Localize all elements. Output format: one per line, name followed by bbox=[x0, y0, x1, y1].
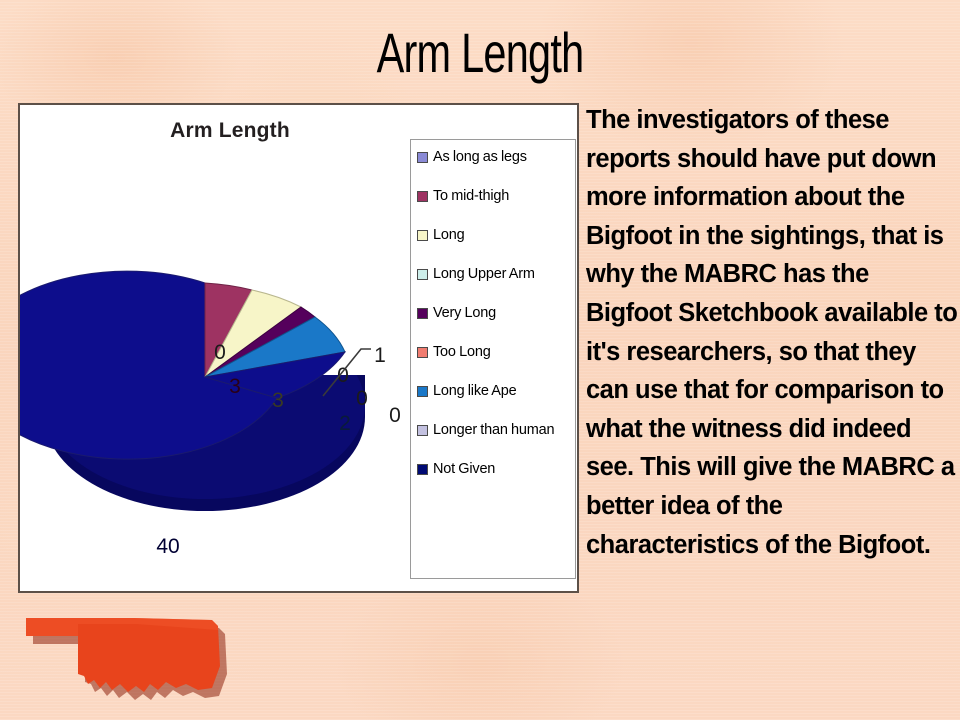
legend-item-label: Not Given bbox=[433, 461, 495, 478]
pie-label-long: 3 bbox=[272, 389, 284, 412]
pie-label-very-long: 1 bbox=[374, 344, 386, 367]
legend-item-as-long-as-legs[interactable]: As long as legs bbox=[417, 149, 571, 166]
legend-item-label: Long bbox=[433, 227, 464, 244]
chart-legend: As long as legs To mid-thigh Long Long U… bbox=[410, 139, 576, 579]
legend-item-label: As long as legs bbox=[433, 149, 527, 166]
chart-container: Arm Length bbox=[18, 103, 579, 593]
pie-label-long-like-ape: 2 bbox=[339, 412, 351, 435]
legend-item-long[interactable]: Long bbox=[417, 227, 571, 244]
pie-chart: 0 3 3 0 1 0 2 0 40 bbox=[20, 105, 420, 595]
pie-label-too-long: 0 bbox=[356, 387, 368, 410]
oklahoma-state-shape-icon bbox=[16, 596, 266, 706]
pie-label-not-given: 40 bbox=[156, 535, 179, 558]
legend-item-label: Too Long bbox=[433, 344, 491, 361]
legend-item-long-like-ape[interactable]: Long like Ape bbox=[417, 383, 571, 400]
pie-label-longer-than-human: 0 bbox=[389, 404, 401, 427]
page-title: Arm Length bbox=[125, 22, 835, 84]
body-paragraph: The investigators of these reports shoul… bbox=[586, 101, 958, 564]
legend-swatch-icon bbox=[417, 308, 428, 319]
pie-label-to-mid-thigh: 3 bbox=[229, 375, 241, 398]
legend-item-very-long[interactable]: Very Long bbox=[417, 305, 571, 322]
legend-item-not-given[interactable]: Not Given bbox=[417, 461, 571, 478]
legend-item-to-mid-thigh[interactable]: To mid-thigh bbox=[417, 188, 571, 205]
legend-item-long-upper-arm[interactable]: Long Upper Arm bbox=[417, 266, 571, 283]
legend-swatch-icon bbox=[417, 386, 428, 397]
pie-label-as-long-as-legs: 0 bbox=[214, 341, 226, 364]
oklahoma-state-svg bbox=[16, 596, 266, 706]
legend-item-label: Long like Ape bbox=[433, 383, 516, 400]
legend-item-label: Longer than human bbox=[433, 422, 554, 439]
legend-swatch-icon bbox=[417, 230, 428, 241]
pie-chart-svg: 0 3 3 0 1 0 2 0 40 bbox=[20, 105, 420, 595]
legend-swatch-icon bbox=[417, 191, 428, 202]
legend-item-longer-than-human[interactable]: Longer than human bbox=[417, 422, 571, 439]
legend-item-label: Very Long bbox=[433, 305, 496, 322]
legend-swatch-icon bbox=[417, 269, 428, 280]
legend-item-label: Long Upper Arm bbox=[433, 266, 535, 283]
legend-item-label: To mid-thigh bbox=[433, 188, 509, 205]
legend-item-too-long[interactable]: Too Long bbox=[417, 344, 571, 361]
legend-swatch-icon bbox=[417, 425, 428, 436]
legend-swatch-icon bbox=[417, 152, 428, 163]
legend-swatch-icon bbox=[417, 464, 428, 475]
legend-swatch-icon bbox=[417, 347, 428, 358]
